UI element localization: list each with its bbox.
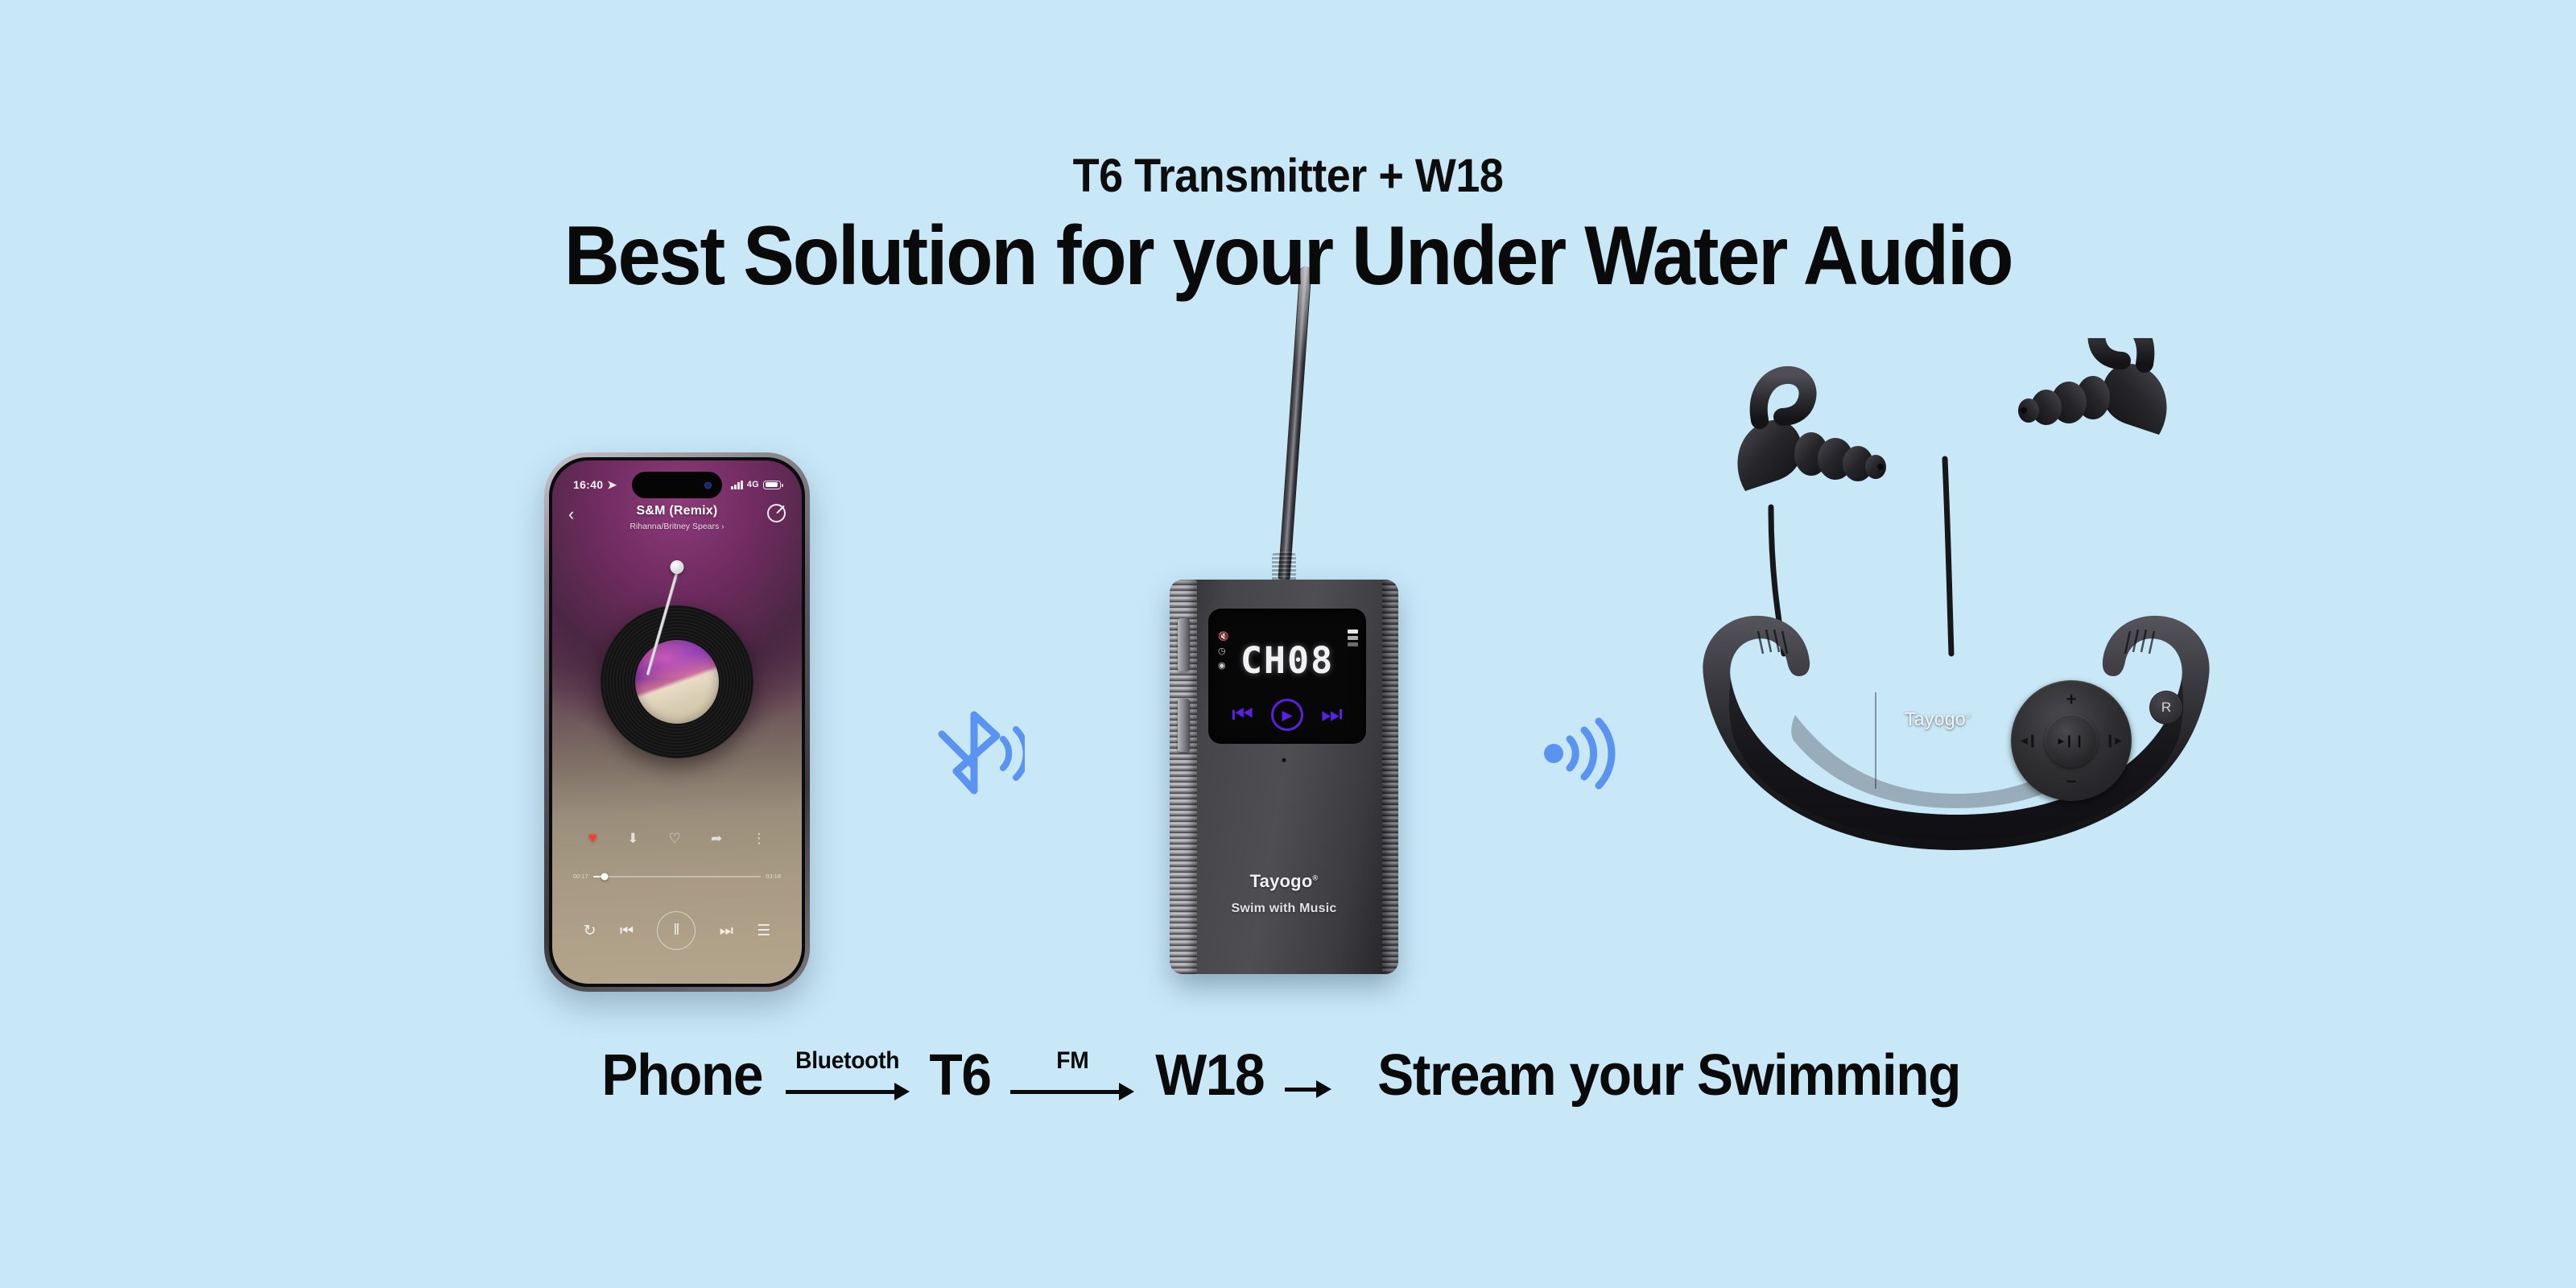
antenna-icon: [1278, 266, 1312, 580]
status-bar-left: 16:40 ➤: [573, 478, 617, 492]
flow-node-w18: W18: [1155, 1046, 1264, 1104]
flow-link-fm: FM: [1010, 1047, 1134, 1104]
page-title: Best Solution for your Under Water Audio: [103, 214, 2473, 298]
network-label: 4G: [747, 480, 759, 489]
t6-playback-buttons: ⏮ ▶ ⏭: [1208, 699, 1366, 731]
flow-node-phone: Phone: [602, 1046, 763, 1104]
phone-bezel: 16:40 ➤ 4G ‹ S&M (Remix) Rihanna/Britney…: [549, 457, 805, 987]
track-artist[interactable]: Rihanna/Britney Spears ›: [552, 522, 802, 531]
bluetooth-signal-icon: [924, 708, 1025, 801]
skip-previous-icon[interactable]: ◂❙: [2021, 735, 2037, 747]
flow-link-label: Bluetooth: [795, 1047, 899, 1075]
t6-side-button-upper[interactable]: [1178, 618, 1190, 671]
location-arrow-icon: ➤: [607, 478, 617, 492]
share-icon[interactable]: ➦: [711, 832, 722, 845]
volume-down-button[interactable]: −: [2066, 773, 2077, 791]
arrow-right-icon: [1285, 1077, 1331, 1101]
play-pause-button[interactable]: ▸❙❙: [2045, 714, 2098, 767]
status-bar: 16:40 ➤ 4G: [552, 475, 802, 494]
playlist-icon[interactable]: ☰: [757, 923, 770, 939]
more-vertical-icon[interactable]: ⋮: [752, 832, 766, 845]
edit-button[interactable]: [767, 504, 786, 522]
waterproof-earbud-left: [1737, 375, 1886, 491]
t6-tagline: Swim with Music: [1171, 902, 1397, 916]
battery-level-icon: [1348, 630, 1358, 646]
t6-brand: Tayogo®: [1171, 871, 1397, 892]
right-side-marker: R: [2149, 691, 2183, 724]
eyebrow-text: T6 Transmitter + W18: [90, 153, 2486, 200]
album-cover-image: [635, 640, 719, 724]
repeat-icon[interactable]: ↻: [584, 923, 597, 939]
status-time: 16:40: [573, 478, 603, 491]
flow-node-t6: T6: [929, 1046, 990, 1104]
album-artwork: [601, 605, 753, 758]
t6-channel-display: CH08: [1208, 639, 1366, 682]
arrow-right-icon: [1010, 1080, 1134, 1104]
headline-block: T6 Transmitter + W18 Best Solution for y…: [0, 153, 2576, 298]
skip-next-icon[interactable]: ❙▸: [2105, 735, 2121, 747]
t6-transmitter: 🔇 ◷ ◉ CH08 ⏮ ▶ ⏭ Tayogo® Swim with Music: [1171, 266, 1397, 998]
progress-knob[interactable]: [601, 873, 609, 880]
radio-wave-icon: [1539, 715, 1620, 795]
waterproof-earbud-right: [2018, 338, 2167, 435]
flow-node-stream: Stream your Swimming: [1378, 1046, 1961, 1104]
skip-previous-icon[interactable]: ⏮: [620, 923, 634, 939]
phone-mockup: 16:40 ➤ 4G ‹ S&M (Remix) Rihanna/Britney…: [544, 452, 810, 992]
progress-bar[interactable]: 00:17 03:18: [573, 873, 781, 880]
elapsed-time: 00:17: [573, 873, 588, 880]
t6-body: 🔇 ◷ ◉ CH08 ⏮ ▶ ⏭ Tayogo® Swim with Music: [1171, 580, 1397, 974]
t6-lcd-screen: 🔇 ◷ ◉ CH08 ⏮ ▶ ⏭: [1208, 609, 1366, 744]
w18-illustration: [1674, 338, 2238, 1014]
flow-link-label: FM: [1056, 1047, 1088, 1075]
skip-next-icon[interactable]: ⏭: [720, 923, 733, 939]
progress-track[interactable]: [593, 876, 761, 877]
signal-flow-diagram: Phone Bluetooth T6 FM W18 Stream your Sw…: [0, 1046, 2576, 1104]
vinyl-record-icon: [601, 605, 753, 758]
download-icon[interactable]: ⬇: [627, 832, 638, 845]
flow-link-bluetooth: Bluetooth: [786, 1047, 910, 1104]
heart-icon[interactable]: ♥: [588, 831, 597, 846]
track-title: S&M (Remix): [552, 504, 802, 518]
signal-bars-icon: [731, 481, 743, 489]
skip-previous-icon[interactable]: ⏮: [1232, 703, 1253, 727]
neckband-icon: [1703, 616, 2209, 850]
total-time: 03:18: [766, 873, 781, 880]
w18-control-pad: + − ◂❙ ❙▸ ▸❙❙: [2011, 680, 2132, 801]
microphone-hole-icon: [1282, 758, 1286, 762]
secondary-action-row: ♥ ⬇ ♡ ➦ ⋮: [552, 831, 802, 846]
arrow-right-icon: [786, 1080, 910, 1104]
w18-headset: Tayogo® + − ◂❙ ❙▸ ▸❙❙ R: [1674, 338, 2238, 1014]
cable-right: [1945, 459, 1951, 654]
t6-side-button-lower[interactable]: [1178, 699, 1190, 752]
tonearm-pivot-icon: [671, 560, 684, 574]
skip-next-icon[interactable]: ⏭: [1321, 703, 1343, 727]
volume-up-button[interactable]: +: [2066, 691, 2077, 708]
w18-brand: Tayogo®: [1905, 708, 1971, 730]
battery-icon: [763, 481, 781, 489]
track-header: S&M (Remix) Rihanna/Britney Spears ›: [552, 504, 802, 531]
pause-icon[interactable]: ‖: [657, 911, 696, 950]
transport-controls: ↻ ⏮ ‖ ⏭ ☰: [552, 911, 802, 950]
play-circle-icon[interactable]: ▶: [1271, 699, 1303, 731]
flow-link-output: [1285, 1050, 1331, 1101]
back-button[interactable]: ‹: [568, 506, 574, 523]
phone-screen: 16:40 ➤ 4G ‹ S&M (Remix) Rihanna/Britney…: [552, 460, 802, 984]
marketing-banner: T6 Transmitter + W18 Best Solution for y…: [0, 0, 2576, 1288]
status-bar-right: 4G: [731, 480, 781, 489]
comment-icon[interactable]: ♡: [669, 832, 681, 845]
